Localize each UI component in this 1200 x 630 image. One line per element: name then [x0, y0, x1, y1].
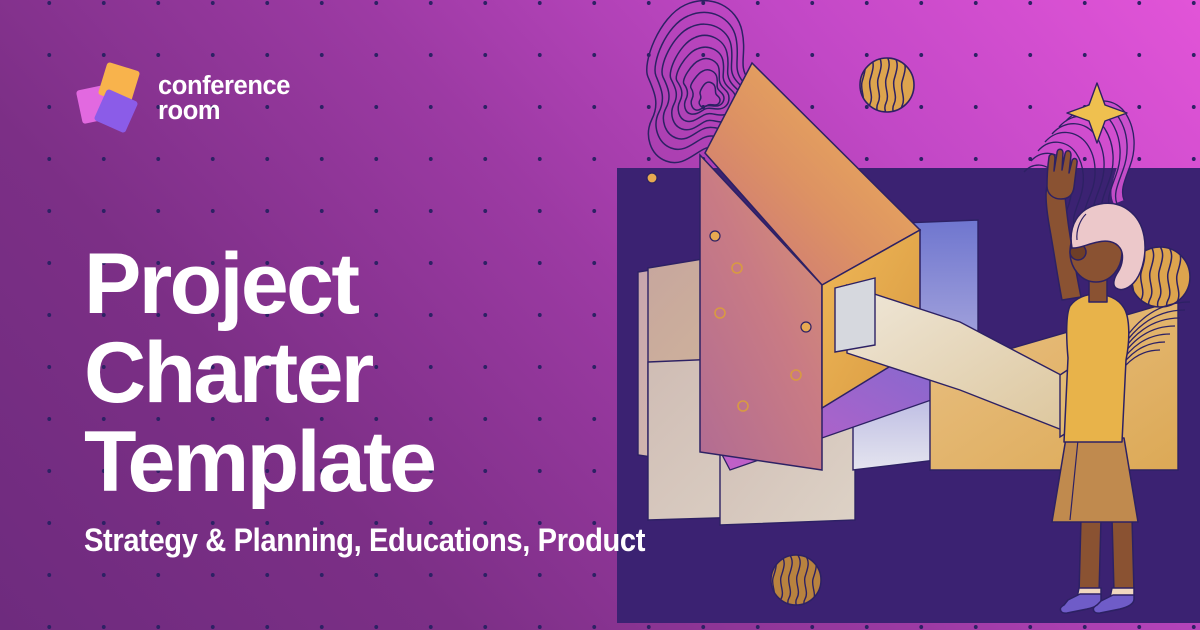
accent-dot [801, 322, 811, 332]
striped-sphere [860, 55, 914, 128]
page-title: Project Charter Template [84, 240, 604, 507]
brand-name-line2: room [158, 99, 290, 124]
social-card: conference room Project Charter Template… [0, 0, 1200, 630]
accent-dot [647, 173, 657, 183]
person-top [1064, 294, 1129, 442]
beam-end-face [835, 278, 875, 352]
person-leg-left [1079, 518, 1101, 594]
person-hand [1047, 149, 1077, 199]
brand-name-line1: conference [158, 74, 290, 99]
person-leg-right [1112, 518, 1134, 592]
brand-name: conference room [158, 74, 290, 124]
page-subtitle: Strategy & Planning, Educations, Product [84, 522, 645, 559]
accent-dot [710, 231, 720, 241]
brand-logo[interactable]: conference room [78, 64, 290, 134]
person-skirt [1052, 438, 1138, 522]
illustration [600, 0, 1200, 630]
conference-room-logo-icon [78, 64, 144, 134]
